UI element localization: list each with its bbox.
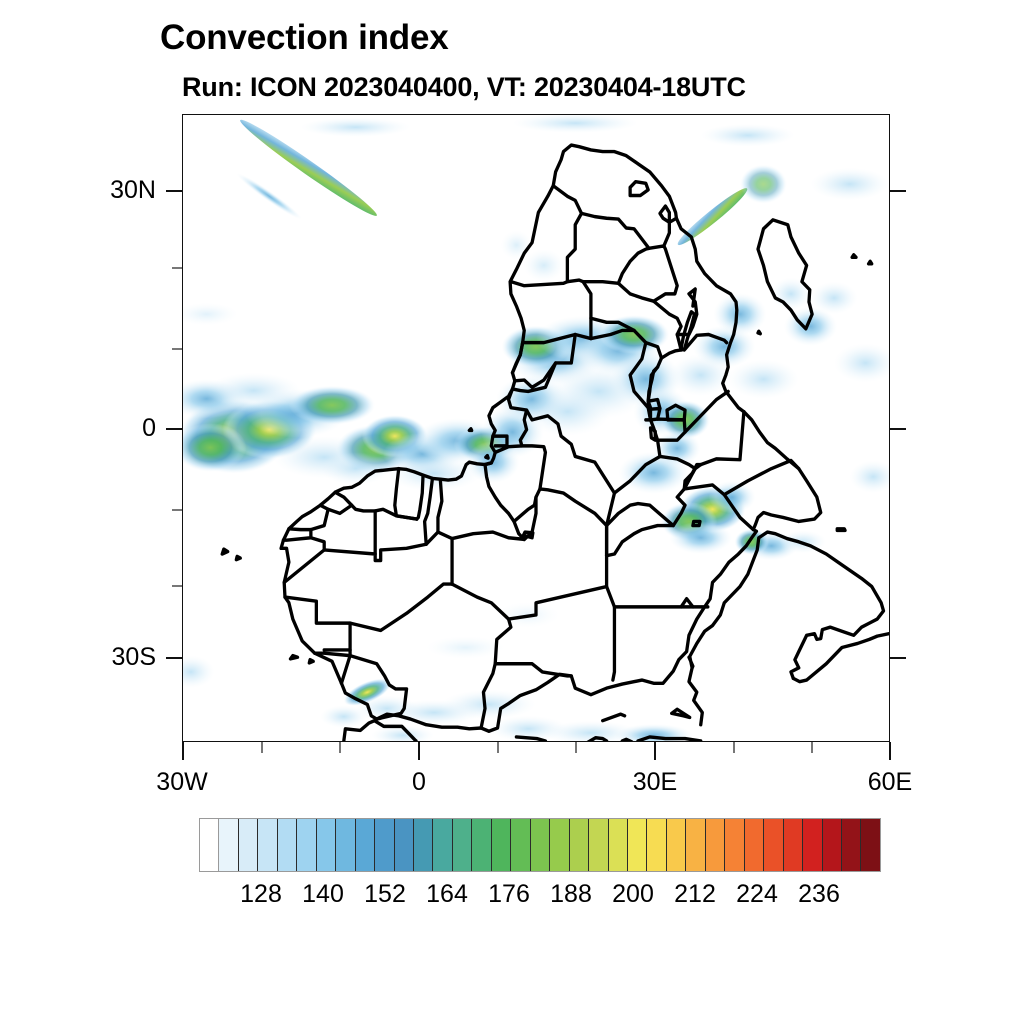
ytick-right-0 [890,428,906,430]
xlabel-30E: 30E [595,768,715,797]
convection-field [183,115,889,741]
border-burkina-ivory [352,505,417,519]
ytick-minor-10S [172,509,182,511]
coastline-levant [689,668,702,725]
border-nigeria-coast [485,463,491,465]
colorbar-cell [706,819,725,871]
xtick-minor-20E [575,742,577,753]
coastline-turkey-west [622,739,631,741]
colorbar-cell [200,819,219,871]
colorbar-cell [414,819,433,871]
lake-chad [523,532,532,538]
ytick-right-30N [890,190,906,192]
ylabel-0: 0 [36,414,156,443]
xtick-minor-40E [733,742,735,753]
coastline-reunion [852,255,856,257]
colorbar-cell [297,819,316,871]
colorbar-cell [609,819,628,871]
border-ethiopia-somalia-s [724,461,799,495]
border-lesotho [630,182,648,196]
xtick-major-60E [889,742,891,760]
colorbar-cell [375,819,394,871]
colorbar-cell [492,819,511,871]
colorbar-tick-label: 212 [674,880,716,909]
colorbar-cell [531,819,550,871]
ytick-minor-20S [172,585,182,587]
colorbar-cell [336,819,355,871]
ytick-right-30S [890,657,906,659]
border-libya-tunisia-north [495,664,571,676]
xlabel-0: 0 [359,768,479,797]
colorbar-cell [745,819,764,871]
xtick-minor-50E [811,742,813,753]
border-zimbabwe-mozambique [618,246,677,301]
colorbar-tick-label: 176 [488,880,530,909]
ytick-major-0 [166,428,182,430]
colorbar-cell [511,819,530,871]
colorbar-cell [764,819,783,871]
coastline-iran-gulf [793,634,889,682]
coastline-bioko [486,456,488,458]
colorbar-cell [667,819,686,871]
page-title: Convection index [160,18,449,58]
xtick-major-30W [182,742,184,760]
xtick-major-0 [418,742,420,760]
colorbar-cell [570,819,589,871]
border-chad-car [532,489,607,556]
colorbar-cell [317,819,336,871]
colorbar-cell [356,819,375,871]
colorbar-tick-label: 152 [364,880,406,909]
run-valid-time-subtitle: Run: ICON 2023040400, VT: 20230404-18UTC [182,72,746,103]
africa-map [183,115,889,741]
colorbar-cell [842,819,861,871]
colorbar-cell [550,819,569,871]
coastline-comoros [758,331,760,333]
colorbar-cell [453,819,472,871]
ytick-major-30S [166,657,182,659]
colorbar-tick-label: 140 [302,880,344,909]
border-botswana-zimbabwe [583,248,649,283]
colorbar-cell [395,819,414,871]
border-liberia-ivory [335,492,351,505]
colorbar-tick-label: 236 [798,880,840,909]
border-guinea-sierraleone [320,505,351,513]
border-botswana-rsa [581,213,648,248]
coastline-sao-tome [469,429,471,431]
colorbar-cell [784,819,803,871]
ylabel-30S: 30S [36,643,156,672]
colorbar-cell [628,819,647,871]
xtick-minor-10W [339,742,341,753]
colorbar-cell [823,819,842,871]
coastline-socotra [837,529,845,531]
ytick-major-30N [166,190,182,192]
colorbar-cell [861,819,879,871]
xlabel-60E: 60E [830,768,950,797]
figure-canvas: Convection index Run: ICON 2023040400, V… [0,0,1024,1024]
border-eswatini [660,206,669,222]
colorbar-cell [278,819,297,871]
ytick-minor-10N [172,348,182,350]
colorbar-cell [433,819,452,871]
coastline-canary-2 [309,660,313,663]
xtick-minor-10E [497,742,499,753]
colorbar-tick-label: 188 [550,880,592,909]
coastline-mauritius [869,261,872,263]
coastline-canary [290,656,297,659]
coastline-crete [603,714,625,721]
border-libya-egypt [607,587,615,680]
colorbar-cell [686,819,705,871]
coastline-cape-verde [222,549,227,554]
border-morocco-wsahara [315,653,350,683]
border-senegal-mali [311,538,324,550]
colorbar-cell [647,819,666,871]
colorbar-tick-label: 164 [426,880,468,909]
colorbar-cell [803,819,822,871]
xtick-minor-20W [261,742,263,753]
colorbar-tick-labels: 128140152164176188200212224236 [199,880,881,916]
colorbar-tick-label: 128 [240,880,282,909]
xtick-major-30E [654,742,656,760]
colorbar[interactable] [199,818,881,872]
map-plot-area[interactable] [182,114,890,742]
colorbar-cell [725,819,744,871]
colorbar-cell [472,819,491,871]
colorbar-cell [589,819,608,871]
border-algeria-mali [350,584,452,630]
ylabel-30N: 30N [36,176,156,205]
coastline-cape-verde-2 [236,556,240,559]
colorbar-tick-label: 224 [736,880,778,909]
colorbar-cell [239,819,258,871]
ytick-minor-20N [172,267,182,269]
colorbar-cell [219,819,238,871]
colorbar-tick-label: 200 [612,880,654,909]
colorbar-cell [258,819,277,871]
xlabel-30W: 30W [122,768,242,797]
coastline-cyprus [672,709,690,717]
